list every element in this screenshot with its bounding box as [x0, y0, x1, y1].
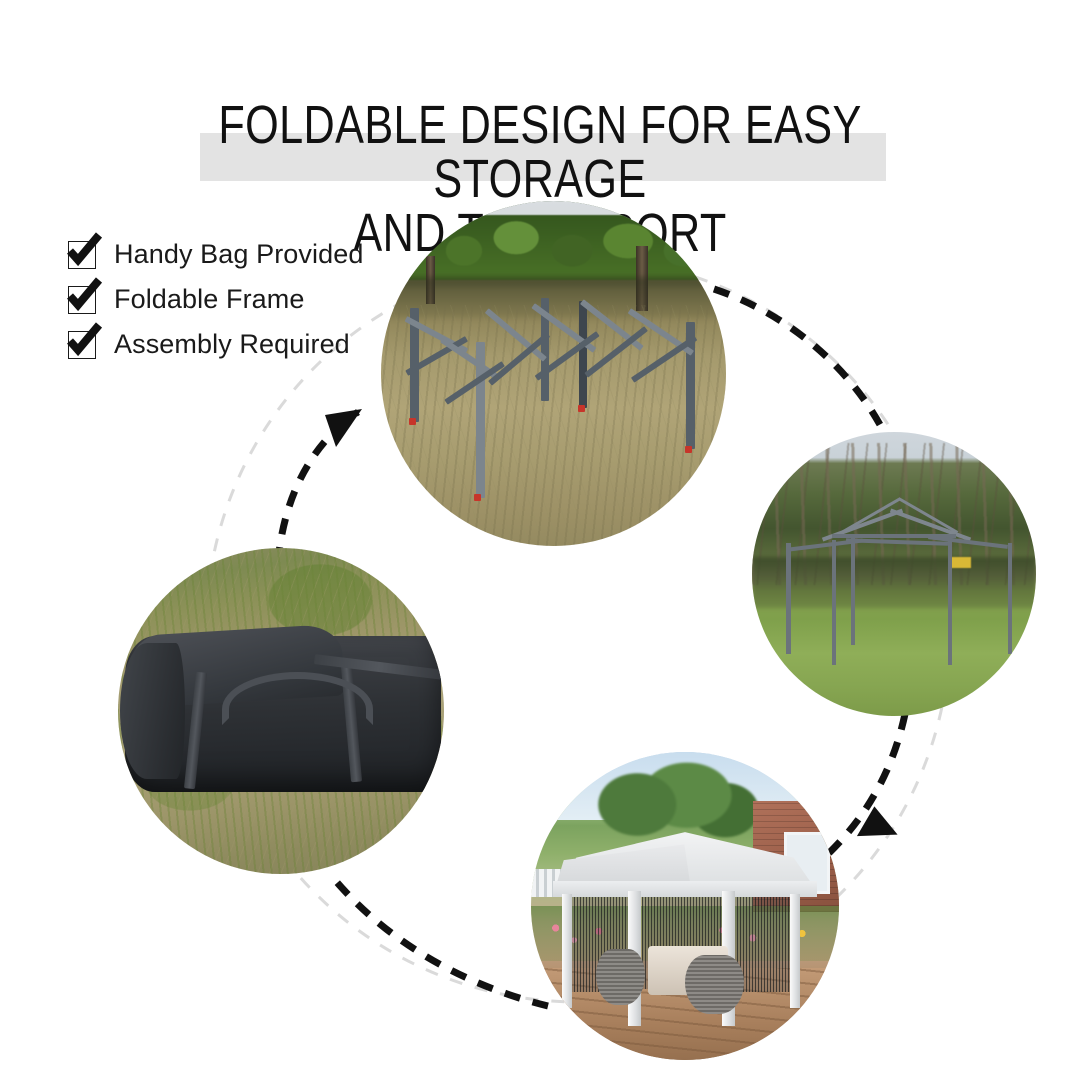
list-item: Handy Bag Provided [68, 232, 363, 277]
infographic-page: FOLDABLE DESIGN FOR EASY STORAGE AND TRA… [0, 0, 1080, 1080]
checkbox-checked-icon [68, 286, 96, 314]
list-item: Assembly Required [68, 322, 363, 367]
arrowhead-erected-to-assembled [848, 803, 897, 852]
frame-eave [832, 534, 957, 537]
photo-frame-erected-image [752, 432, 1036, 716]
frame-leg [948, 540, 953, 665]
photo-frame-folded-image [381, 201, 726, 546]
checkbox-checked-icon [68, 241, 96, 269]
list-item-label: Assembly Required [114, 329, 350, 360]
rattan-chair [685, 955, 744, 1014]
arrowhead-bag-to-folded [325, 409, 362, 447]
photo-frame-folded [381, 201, 726, 546]
frame-leg [1008, 543, 1013, 654]
frame-leg [786, 543, 791, 654]
frame-foot [578, 405, 585, 412]
checkbox-checked-icon [68, 331, 96, 359]
yellow-sign [951, 557, 971, 568]
photo-carry-bag-image [118, 548, 444, 874]
photo-frame-erected [752, 432, 1036, 716]
feature-checklist: Handy Bag Provided Foldable Frame Assemb… [68, 232, 363, 367]
list-item: Foldable Frame [68, 277, 363, 322]
cycle-arrow-assembled-to-bag [335, 880, 548, 1006]
gazebo-post [790, 894, 800, 1008]
hedgerow [752, 557, 1036, 608]
list-item-label: Handy Bag Provided [114, 239, 363, 270]
photo-gazebo-assembled [531, 752, 839, 1060]
gazebo-canopy-valance [553, 881, 818, 896]
frame-foot [685, 446, 692, 453]
cycle-arrow-folded-to-erected [714, 289, 891, 447]
rattan-chair [596, 949, 645, 1004]
photo-gazebo-assembled-image [531, 752, 839, 1060]
gazebo-post [562, 894, 572, 1008]
cycle-arrow-bag-to-folded [278, 412, 358, 563]
list-item-label: Foldable Frame [114, 284, 304, 315]
photo-carry-bag [118, 548, 444, 874]
cycle-arrow-erected-to-assembled [829, 714, 905, 853]
frame-leg [851, 537, 855, 645]
frame-foot [474, 494, 481, 501]
carry-bag-end-panel [120, 643, 185, 780]
frame-leg [579, 301, 587, 408]
frame-leg [832, 540, 837, 665]
frame-foot [409, 418, 416, 425]
